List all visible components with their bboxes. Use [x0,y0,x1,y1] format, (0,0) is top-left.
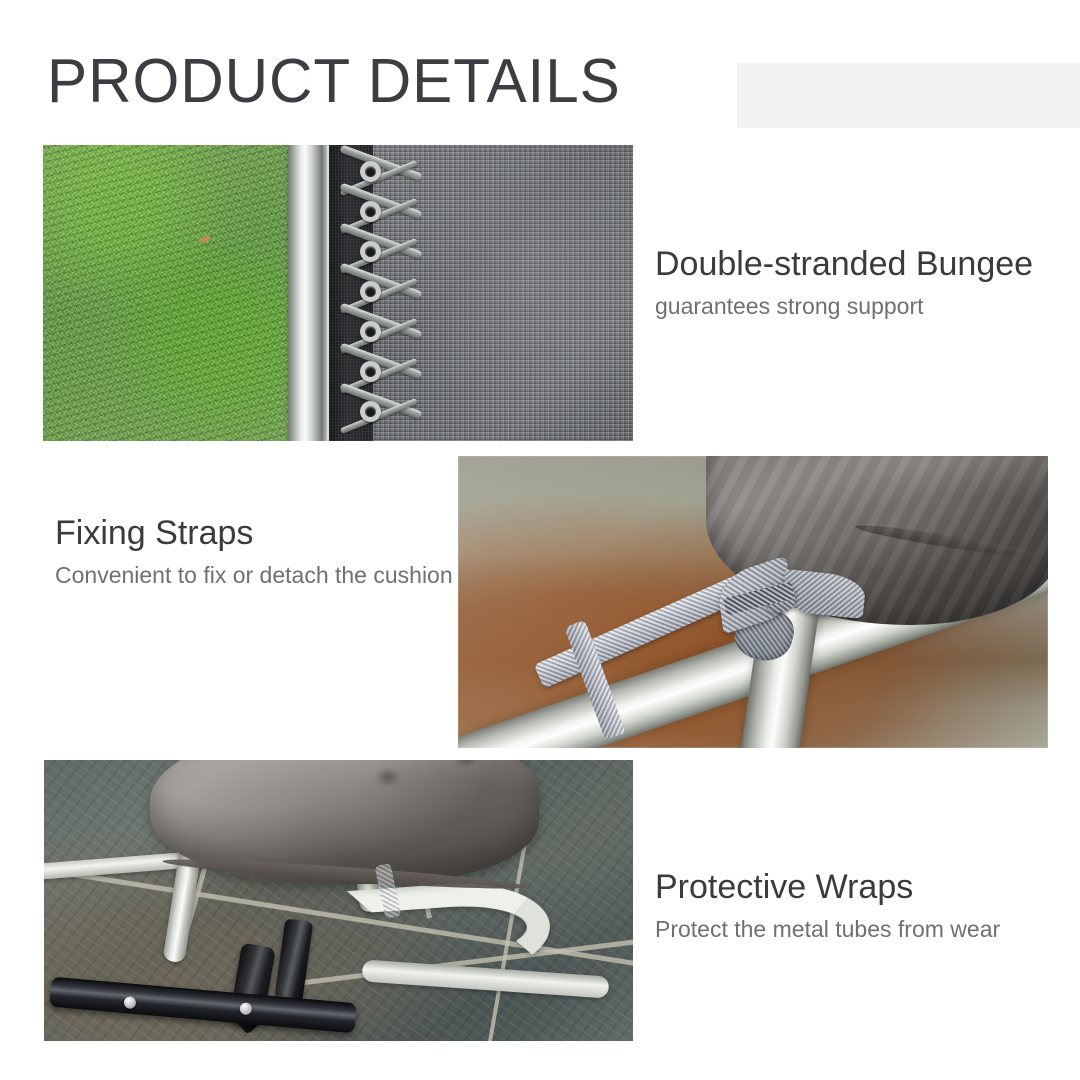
leaf-speck [199,235,211,243]
wrap-rivet [239,1003,252,1016]
feature-subtitle-straps: Convenient to fix or detach the cushion [55,559,453,591]
metal-frame-tube-shadow [322,145,327,441]
feature-image-bungee [43,145,633,441]
cushion-hem-seam [855,521,1039,562]
feature-image-wraps [44,760,633,1041]
grommet-eyelet [360,161,381,182]
page-title: PRODUCT DETAILS [47,46,621,118]
feature-title-wraps: Protective Wraps [655,866,1000,908]
header-accent-bar [737,63,1080,128]
feature-subtitle-bungee: guarantees strong support [655,290,1033,322]
feature-title-bungee: Double-stranded Bungee [655,243,1033,285]
cushion-tuft [375,767,401,787]
feature-subtitle-wraps: Protect the metal tubes from wear [655,913,1000,945]
feature-text-straps: Fixing Straps Convenient to fix or detac… [55,512,453,591]
product-details-page: PRODUCT DETAILS [0,0,1080,1080]
feature-image-straps [458,456,1048,748]
grommet-eyelet [360,241,381,262]
grommet-eyelet [360,281,381,302]
grass-texture [43,145,291,441]
feature-text-bungee: Double-stranded Bungee guarantees strong… [655,243,1033,322]
grommet-eyelet [360,361,381,382]
metal-frame-tube [288,145,322,441]
grommet-eyelet [360,321,381,342]
feature-title-straps: Fixing Straps [55,512,453,554]
grommet-eyelet [360,401,381,422]
feature-text-wraps: Protective Wraps Protect the metal tubes… [655,866,1000,945]
grommet-eyelet [360,201,381,222]
wrap-rivet [123,996,136,1009]
cushion-tuft [453,760,479,768]
